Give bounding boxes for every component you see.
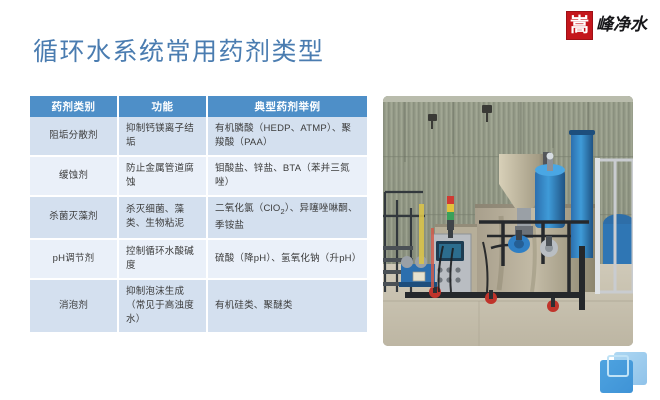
page-title: 循环水系统常用药剂类型 (33, 32, 325, 68)
logo-brand-text: 峰净水 (596, 15, 647, 35)
decorative-square-outline (607, 355, 629, 377)
examples-text-pre: 二氧化氯（ClO (215, 203, 280, 214)
cell-examples: 有机硅类、聚醚类 (207, 279, 367, 333)
examples-text: 钼酸盐、锌盐、BTA（苯并三氮唑） (215, 163, 350, 188)
cell-category: 阻垢分散剂 (30, 117, 118, 156)
cell-category: 消泡剂 (30, 279, 118, 333)
cell-function: 抑制泡沫生成（常见于高浊度水） (118, 279, 207, 333)
cell-function: 抑制钙镁离子结垢 (118, 117, 207, 156)
cell-examples: 硫酸（降pH）、氢氧化钠（升pH） (207, 239, 367, 279)
table-row: 杀菌灭藻剂 杀灭细菌、藻类、生物粘泥 二氧化氯（ClO2）、异噻唑啉酮、季铵盐 (30, 196, 367, 239)
chemicals-table: 药剂类别 功能 典型药剂举例 阻垢分散剂 抑制钙镁离子结垢 有机膦酸（HEDP、… (30, 96, 367, 334)
decorative-squares (600, 352, 648, 394)
cell-category: 杀菌灭藻剂 (30, 196, 118, 239)
cell-category: 缓蚀剂 (30, 156, 118, 196)
cell-category: pH调节剂 (30, 239, 118, 279)
cell-function: 杀灭细菌、藻类、生物粘泥 (118, 196, 207, 239)
slide-canvas: 嵩 峰净水 循环水系统常用药剂类型 药剂类别 功能 典型药剂举例 阻垢分散剂 抑… (0, 0, 660, 400)
cell-examples: 二氧化氯（ClO2）、异噻唑啉酮、季铵盐 (207, 196, 367, 239)
examples-text: 有机膦酸（HEDP、ATMP）、聚羧酸（PAA） (215, 123, 351, 148)
cell-examples: 有机膦酸（HEDP、ATMP）、聚羧酸（PAA） (207, 117, 367, 156)
equipment-photo-illustration (383, 96, 633, 346)
column-header-category: 药剂类别 (30, 96, 118, 117)
table-row: 缓蚀剂 防止金属管道腐蚀 钼酸盐、锌盐、BTA（苯并三氮唑） (30, 156, 367, 196)
chemicals-table-wrapper: 药剂类别 功能 典型药剂举例 阻垢分散剂 抑制钙镁离子结垢 有机膦酸（HEDP、… (30, 96, 367, 334)
table-header-row: 药剂类别 功能 典型药剂举例 (30, 96, 367, 117)
column-header-examples: 典型药剂举例 (207, 96, 367, 117)
table-row: 阻垢分散剂 抑制钙镁离子结垢 有机膦酸（HEDP、ATMP）、聚羧酸（PAA） (30, 117, 367, 156)
column-header-function: 功能 (118, 96, 207, 117)
logo-seal-icon: 嵩 (566, 11, 593, 40)
table-row: pH调节剂 控制循环水酸碱度 硫酸（降pH）、氢氧化钠（升pH） (30, 239, 367, 279)
cell-function: 控制循环水酸碱度 (118, 239, 207, 279)
examples-text: 硫酸（降pH）、氢氧化钠（升pH） (215, 253, 361, 264)
cell-function: 防止金属管道腐蚀 (118, 156, 207, 196)
equipment-photo (383, 96, 633, 346)
company-logo: 嵩 峰净水 (566, 8, 652, 42)
cell-examples: 钼酸盐、锌盐、BTA（苯并三氮唑） (207, 156, 367, 196)
table-row: 消泡剂 抑制泡沫生成（常见于高浊度水） 有机硅类、聚醚类 (30, 279, 367, 333)
examples-text: 有机硅类、聚醚类 (215, 300, 293, 311)
